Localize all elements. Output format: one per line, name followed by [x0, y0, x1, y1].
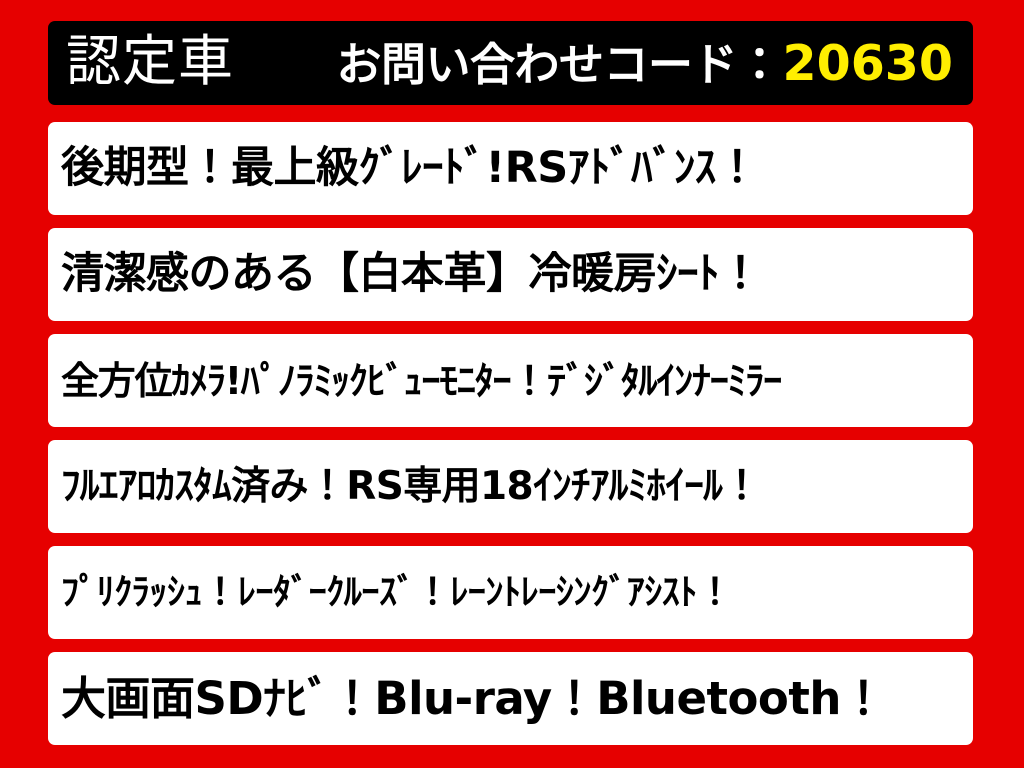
inquiry-code-value: 20630	[783, 39, 953, 88]
feature-list: 後期型！最上級ｸﾞﾚｰﾄﾞ!RSｱﾄﾞﾊﾞﾝｽ！ 清潔感のある【白本革】冷暖房ｼ…	[48, 122, 973, 745]
feature-row-text: ﾌﾟﾘｸﾗｯｼｭ！ﾚｰﾀﾞｰｸﾙｰｽﾞ！ﾚｰﾝﾄﾚｰｼﾝｸﾞｱｼｽﾄ！	[61, 575, 733, 611]
feature-row: ﾌﾙｴｱﾛｶｽﾀﾑ済み！RS専用18ｲﾝﾁｱﾙﾐﾎｲｰﾙ！	[48, 440, 973, 533]
inquiry-code-label: お問い合わせコード：	[337, 42, 782, 87]
feature-row: 全方位ｶﾒﾗ!ﾊﾟﾉﾗﾐｯｸﾋﾞｭｰﾓﾆﾀｰ！ﾃﾞｼﾞﾀﾙｲﾝﾅｰﾐﾗｰ	[48, 334, 973, 427]
feature-row-text: 全方位ｶﾒﾗ!ﾊﾟﾉﾗﾐｯｸﾋﾞｭｰﾓﾆﾀｰ！ﾃﾞｼﾞﾀﾙｲﾝﾅｰﾐﾗｰ	[61, 362, 781, 400]
feature-row: 後期型！最上級ｸﾞﾚｰﾄﾞ!RSｱﾄﾞﾊﾞﾝｽ！	[48, 122, 973, 215]
vehicle-feature-banner: 認定車 お問い合わせコード： 20630 後期型！最上級ｸﾞﾚｰﾄﾞ!RSｱﾄﾞ…	[0, 0, 1024, 768]
feature-row: 清潔感のある【白本革】冷暖房ｼｰﾄ！	[48, 228, 973, 321]
feature-row-text: 大画面SDﾅﾋﾞ！Blu-ray！Bluetooth！	[61, 676, 885, 721]
feature-row-text: ﾌﾙｴｱﾛｶｽﾀﾑ済み！RS専用18ｲﾝﾁｱﾙﾐﾎｲｰﾙ！	[61, 467, 761, 506]
feature-row: 大画面SDﾅﾋﾞ！Blu-ray！Bluetooth！	[48, 652, 973, 745]
feature-row: ﾌﾟﾘｸﾗｯｼｭ！ﾚｰﾀﾞｰｸﾙｰｽﾞ！ﾚｰﾝﾄﾚｰｼﾝｸﾞｱｼｽﾄ！	[48, 546, 973, 639]
certified-vehicle-badge: 認定車	[66, 34, 234, 93]
header-bar: 認定車 お問い合わせコード： 20630	[48, 21, 973, 105]
feature-row-text: 清潔感のある【白本革】冷暖房ｼｰﾄ！	[61, 253, 762, 296]
inquiry-code: お問い合わせコード： 20630	[337, 39, 960, 88]
feature-row-text: 後期型！最上級ｸﾞﾚｰﾄﾞ!RSｱﾄﾞﾊﾞﾝｽ！	[61, 147, 758, 190]
